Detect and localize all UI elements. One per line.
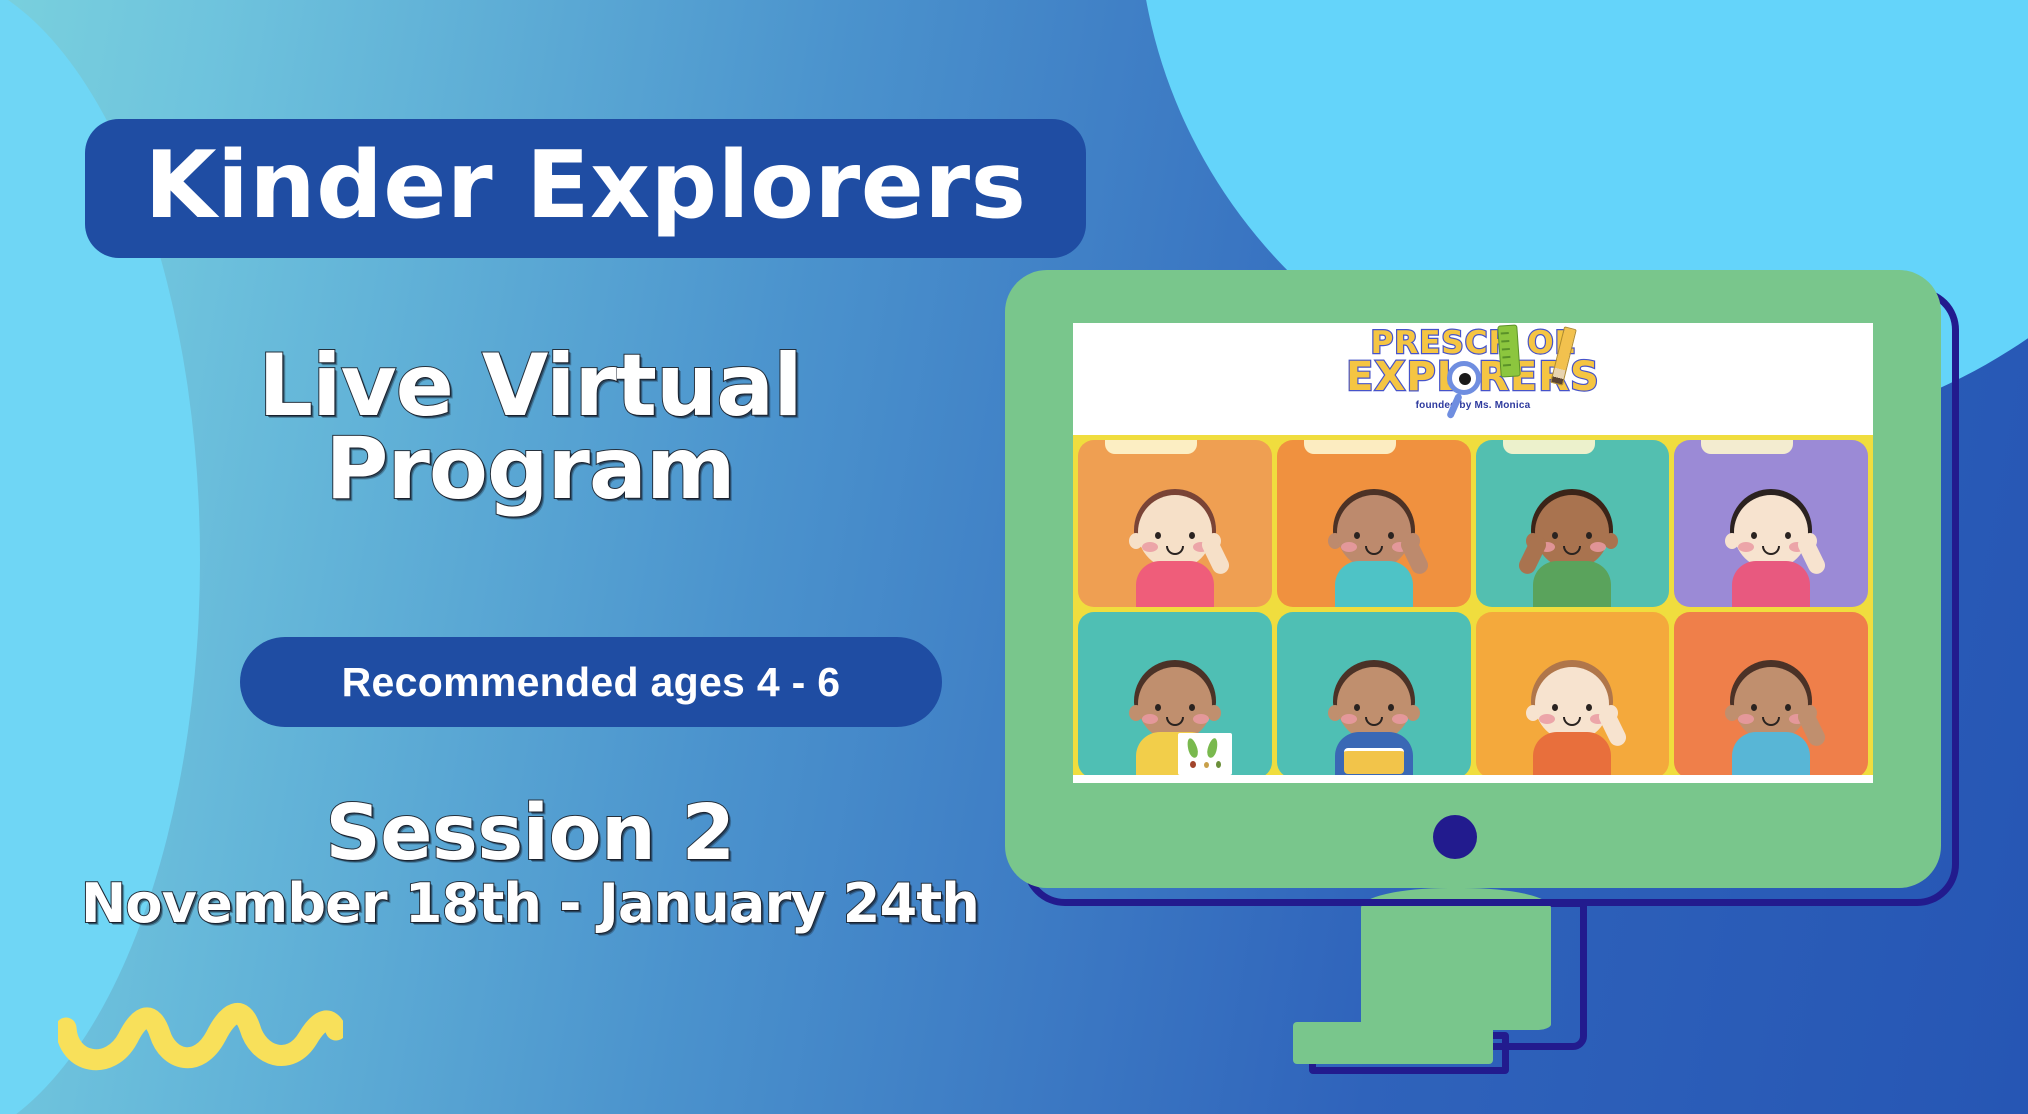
cheek-left <box>1539 714 1555 724</box>
child-avatar <box>1302 635 1445 778</box>
video-tile-child-waving-teal-shirt <box>1277 440 1471 607</box>
session-dates: November 18th - January 24th <box>0 876 1060 933</box>
tile-ui-chip <box>1105 440 1197 454</box>
ruler-icon <box>1497 324 1521 377</box>
eye-left <box>1155 704 1161 711</box>
page-title: Kinder Explorers <box>144 139 1026 239</box>
head <box>1734 667 1808 741</box>
video-tile-child-waving-pink-shirt <box>1078 440 1272 607</box>
poster-canvas: Kinder Explorers Live Virtual Program Re… <box>0 0 2028 1114</box>
head <box>1535 667 1609 741</box>
torso <box>1533 732 1611 778</box>
logo-founded-by: founded by Ms. Monica <box>1303 400 1643 411</box>
eye-left <box>1354 532 1360 539</box>
video-tile-child-waving-purple <box>1674 440 1868 607</box>
child-avatar <box>1699 635 1842 778</box>
preschool-explorers-logo: PRESCH OL EXPL RERS founded by Ms. Monic… <box>1303 329 1643 411</box>
torso <box>1732 561 1810 607</box>
session-block: Session 2 November 18th - January 24th <box>0 795 1060 932</box>
yellow-wave-squiggle-icon <box>58 990 343 1080</box>
cheek-left <box>1142 714 1158 724</box>
logo-header: PRESCH OL EXPL RERS founded by Ms. Monic… <box>1073 323 1873 435</box>
eye-left <box>1354 704 1360 711</box>
cheek-right <box>1193 714 1209 724</box>
recommended-ages-badge: Recommended ages 4 - 6 <box>240 637 942 727</box>
monitor-bezel: PRESCH OL EXPL RERS founded by Ms. Monic… <box>1005 270 1941 888</box>
child-avatar <box>1699 463 1842 606</box>
eye-right <box>1189 532 1195 539</box>
headline-line-1: Live Virtual <box>0 345 1060 428</box>
cheek-left <box>1142 542 1158 552</box>
cheek-left <box>1341 714 1357 724</box>
child-avatar <box>1103 635 1246 778</box>
video-tile-child-reading-book <box>1277 612 1471 779</box>
monitor-illustration: PRESCH OL EXPL RERS founded by Ms. Monic… <box>1005 270 1985 1030</box>
eye-left <box>1155 532 1161 539</box>
session-title: Session 2 <box>0 795 1060 874</box>
head <box>1138 667 1212 741</box>
head <box>1337 495 1411 569</box>
torso <box>1533 561 1611 607</box>
headline-block: Live Virtual Program <box>0 345 1060 512</box>
child-avatar <box>1501 635 1644 778</box>
torso <box>1136 561 1214 607</box>
eye-right <box>1785 704 1791 711</box>
head <box>1138 495 1212 569</box>
video-call-grid <box>1073 435 1873 783</box>
cheek-left <box>1738 714 1754 724</box>
video-tile-child-blue-apron <box>1674 612 1868 779</box>
magnifying-glass-icon <box>1447 361 1481 395</box>
tile-ui-chip <box>1503 440 1595 454</box>
video-tile-child-painting-orange <box>1476 612 1670 779</box>
eye-right <box>1388 532 1394 539</box>
monitor-stand-base <box>1293 1022 1493 1064</box>
cheek-right <box>1392 714 1408 724</box>
child-avatar <box>1501 463 1644 606</box>
title-banner: Kinder Explorers <box>85 119 1086 258</box>
eye-right <box>1189 704 1195 711</box>
tile-ui-chip <box>1304 440 1396 454</box>
video-tile-child-with-leaf-card <box>1078 612 1272 779</box>
left-content-column: Kinder Explorers Live Virtual Program Re… <box>0 0 1060 1114</box>
open-book-icon <box>1344 748 1404 774</box>
monitor-power-dot-icon <box>1433 815 1477 859</box>
eye-left <box>1751 704 1757 711</box>
monitor-stand-neck <box>1361 888 1551 1030</box>
head <box>1734 495 1808 569</box>
child-avatar <box>1103 463 1246 606</box>
screen-bottom-strip <box>1073 775 1873 783</box>
tile-ui-chip <box>1701 440 1793 454</box>
headline-line-2: Program <box>0 428 1060 511</box>
torso <box>1732 732 1810 778</box>
screen-content: PRESCH OL EXPL RERS founded by Ms. Monic… <box>1073 323 1873 783</box>
torso <box>1335 561 1413 607</box>
cheek-left <box>1341 542 1357 552</box>
head <box>1337 667 1411 741</box>
leaf-craft-card <box>1178 733 1232 775</box>
child-avatar <box>1302 463 1445 606</box>
recommended-ages-label: Recommended ages 4 - 6 <box>342 659 841 706</box>
eye-right <box>1388 704 1394 711</box>
video-tile-child-green-sweater <box>1476 440 1670 607</box>
head <box>1535 495 1609 569</box>
